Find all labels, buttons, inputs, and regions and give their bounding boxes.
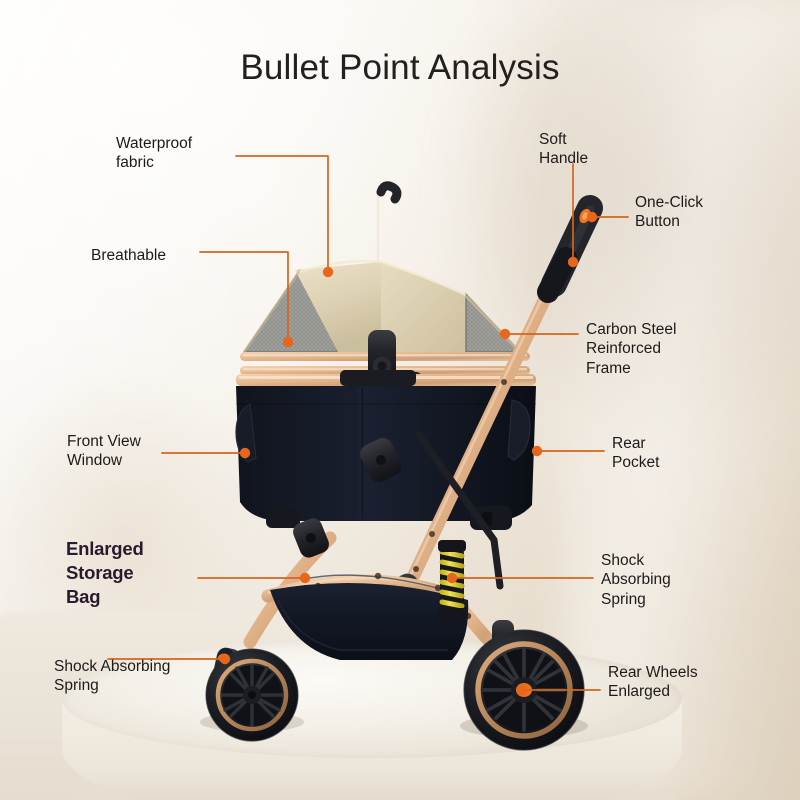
leader-dot-soft-handle — [568, 257, 578, 267]
leader-dot-breathable — [283, 337, 293, 347]
leader-dot-rear-pocket — [532, 446, 542, 456]
front-swivel-wheel — [206, 646, 298, 741]
leader-dot-spring-front — [220, 654, 230, 664]
leader-waterproof-fabric — [236, 156, 328, 272]
callout-label-rear-wheels-enlarged[interactable]: Rear Wheels Enlarged — [608, 663, 698, 702]
callout-label-shock-absorbing-spring-front[interactable]: Shock Absorbing Spring — [54, 657, 170, 696]
leader-dot-spring-rear — [447, 573, 457, 583]
leader-dot-carbon-steel-frame — [500, 329, 510, 339]
callout-label-rear-pocket[interactable]: Rear Pocket — [612, 434, 659, 473]
leader-dot-rear-wheels — [517, 685, 527, 695]
callout-label-carbon-steel-frame[interactable]: Carbon Steel Reinforced Frame — [586, 320, 676, 378]
callout-label-shock-absorbing-spring-rear[interactable]: Shock Absorbing Spring — [601, 551, 671, 609]
page-title: Bullet Point Analysis — [0, 48, 800, 88]
leader-dot-storage-bag — [300, 573, 310, 583]
callout-label-soft-handle[interactable]: Soft Handle — [539, 130, 588, 169]
callout-label-waterproof-fabric[interactable]: Waterproof fabric — [116, 134, 192, 173]
callout-label-enlarged-storage-bag[interactable]: Enlarged Storage Bag — [66, 537, 144, 609]
leader-dot-front-view-window — [240, 448, 250, 458]
callout-label-front-view-window[interactable]: Front View Window — [67, 432, 141, 471]
leader-dot-waterproof-fabric — [323, 267, 333, 277]
poster-canvas: Bullet Point Analysis Waterproof fabricB… — [0, 0, 800, 800]
leader-dot-one-click-button — [587, 212, 597, 222]
callout-label-one-click-button[interactable]: One-Click Button — [635, 193, 703, 232]
callout-label-breathable[interactable]: Breathable — [91, 246, 166, 265]
